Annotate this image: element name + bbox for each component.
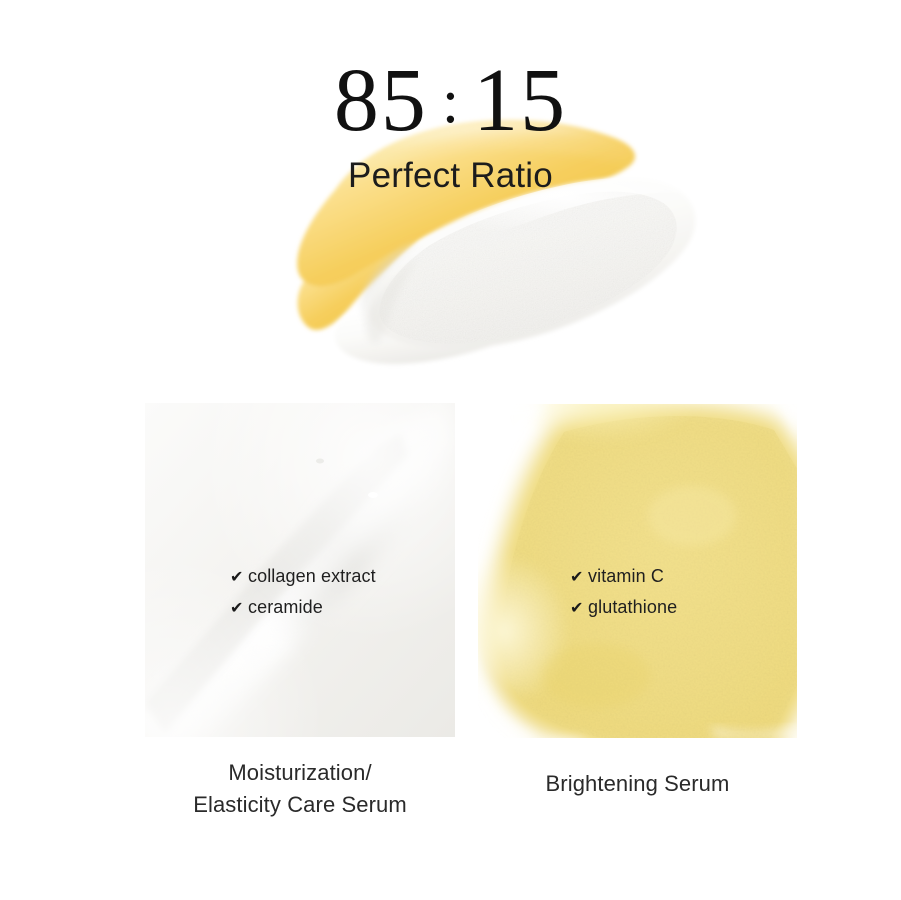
product-ratio-infographic: 85:15 Perfect Ratio bbox=[0, 0, 901, 900]
ratio-headline: 85:15 bbox=[0, 56, 901, 146]
ingredient-label: collagen extract bbox=[248, 566, 376, 587]
ingredient-label: glutathione bbox=[588, 597, 677, 618]
caption-right: Brightening Serum bbox=[478, 768, 797, 800]
check-icon: ✔ bbox=[230, 598, 248, 617]
caption-line: Moisturization/ bbox=[145, 757, 455, 789]
ratio-left-number: 85 bbox=[334, 51, 428, 150]
ingredient-list-right: ✔ vitamin C ✔ glutathione bbox=[570, 566, 677, 628]
ingredient-label: ceramide bbox=[248, 597, 323, 618]
ingredient-item: ✔ collagen extract bbox=[230, 566, 376, 597]
ingredient-item: ✔ vitamin C bbox=[570, 566, 677, 597]
ingredient-item: ✔ glutathione bbox=[570, 597, 677, 628]
check-icon: ✔ bbox=[570, 598, 588, 617]
caption-line: Brightening Serum bbox=[478, 768, 797, 800]
ratio-separator: : bbox=[428, 68, 473, 136]
check-icon: ✔ bbox=[230, 567, 248, 586]
hero-headline-block: 85:15 Perfect Ratio bbox=[0, 56, 901, 196]
ingredient-item: ✔ ceramide bbox=[230, 597, 376, 628]
caption-left: Moisturization/ Elasticity Care Serum bbox=[145, 757, 455, 821]
ratio-right-number: 15 bbox=[473, 51, 567, 150]
ingredient-list-left: ✔ collagen extract ✔ ceramide bbox=[230, 566, 376, 628]
ingredient-label: vitamin C bbox=[588, 566, 664, 587]
check-icon: ✔ bbox=[570, 567, 588, 586]
caption-line: Elasticity Care Serum bbox=[145, 789, 455, 821]
hero-subtitle: Perfect Ratio bbox=[0, 156, 901, 196]
